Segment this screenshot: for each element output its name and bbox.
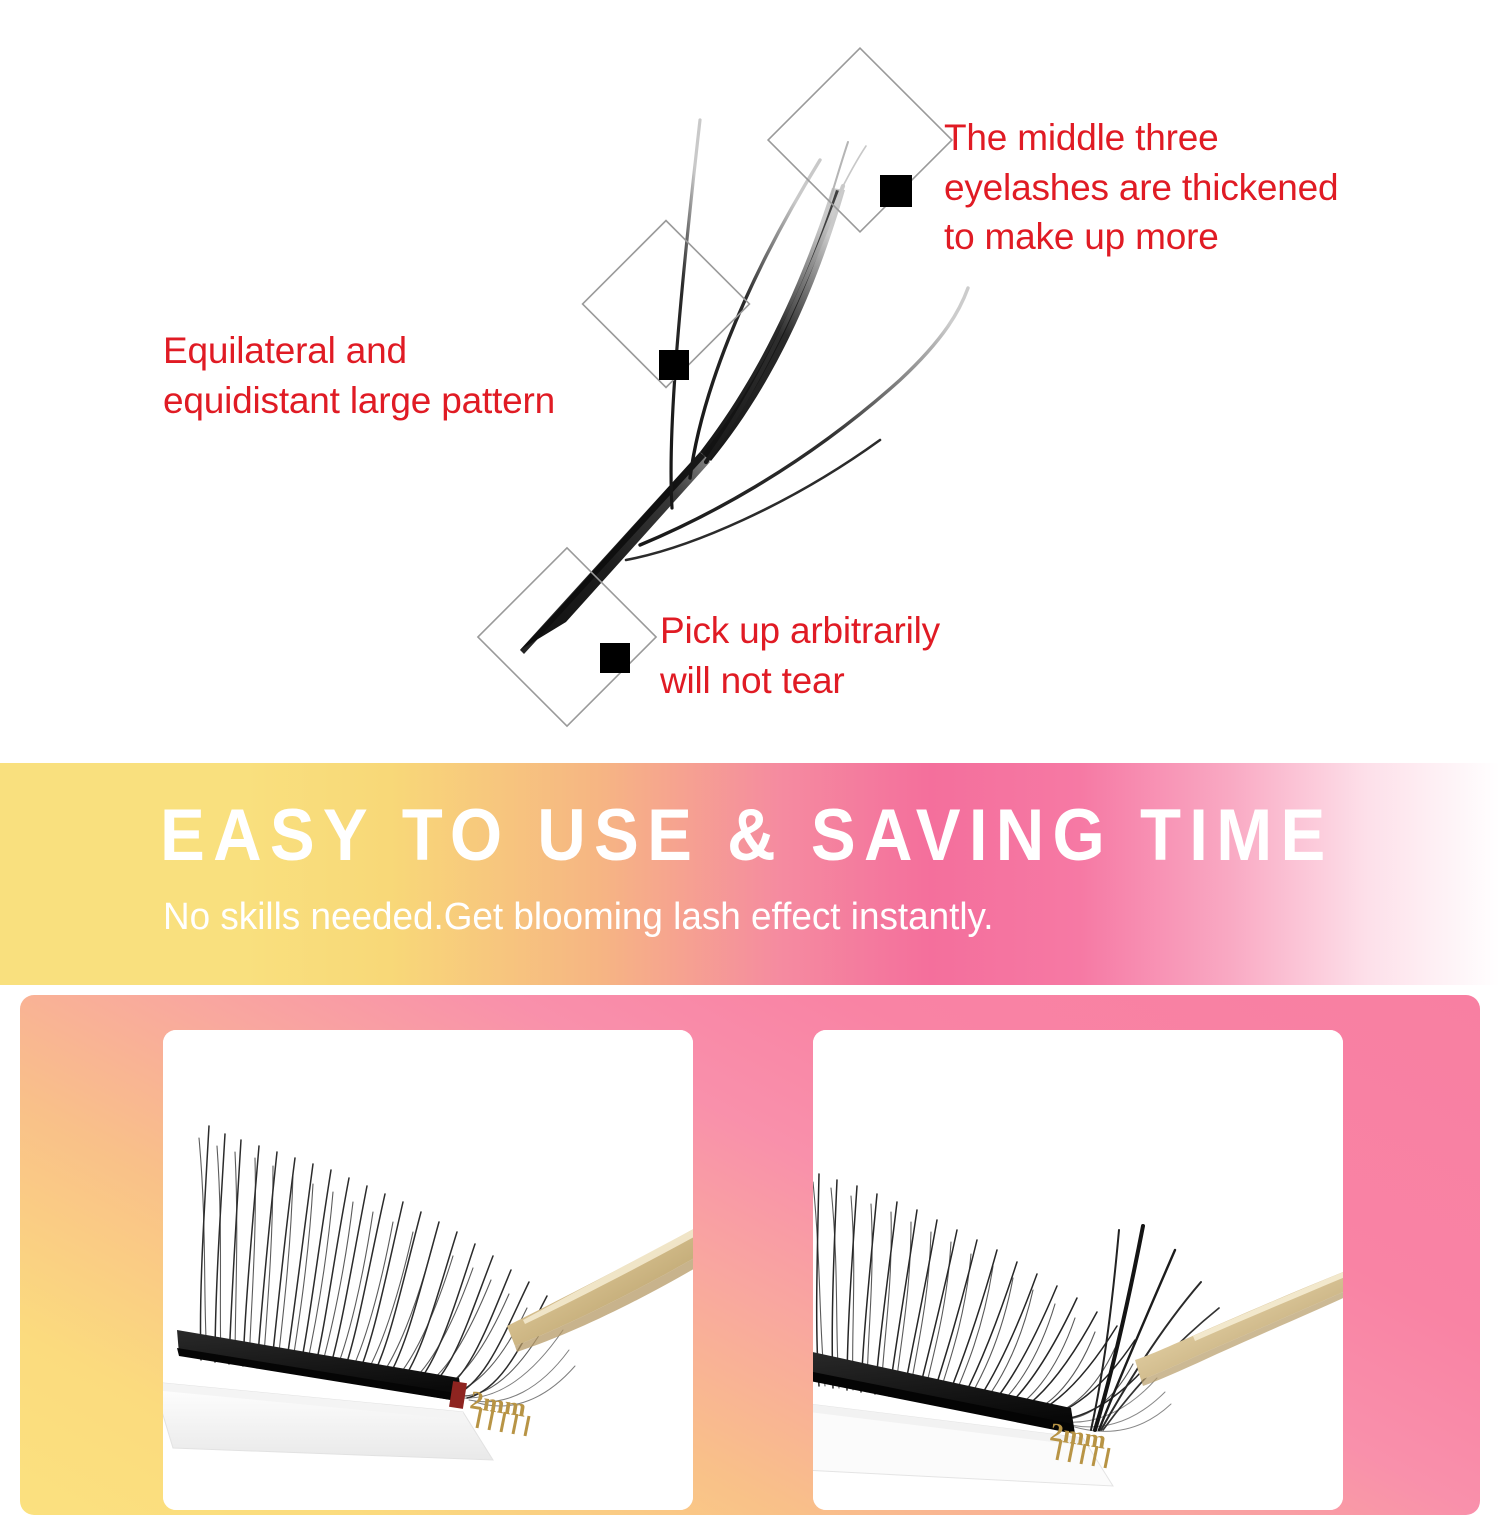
photo-card-right[interactable]: 2mm	[813, 1030, 1343, 1510]
diamond-outline-marker-bottom	[478, 548, 656, 726]
lash-tray-photo-left: 2mm	[163, 1030, 693, 1510]
callout-equilateral: Equilateral and equidistant large patter…	[163, 326, 555, 425]
callout-pick-up: Pick up arbitrarily will not tear	[660, 606, 940, 705]
feature-banner: EASY TO USE & SAVING TIME No skills need…	[0, 763, 1500, 985]
banner-title: EASY TO USE & SAVING TIME	[160, 799, 1334, 872]
photo-card-left[interactable]: 2mm	[163, 1030, 693, 1510]
banner-subtitle: No skills needed.Get blooming lash effec…	[163, 896, 993, 939]
lash-fan-center	[700, 188, 845, 461]
lash-diagram-section: The middle three eyelashes are thickened…	[0, 0, 1500, 763]
lash-tray-photo-right: 2mm	[813, 1030, 1343, 1510]
diamond-outline-marker-middle	[583, 221, 750, 388]
callout-middle-three: The middle three eyelashes are thickened…	[944, 113, 1338, 262]
photo-gallery-panel: 2mm	[20, 995, 1480, 1515]
